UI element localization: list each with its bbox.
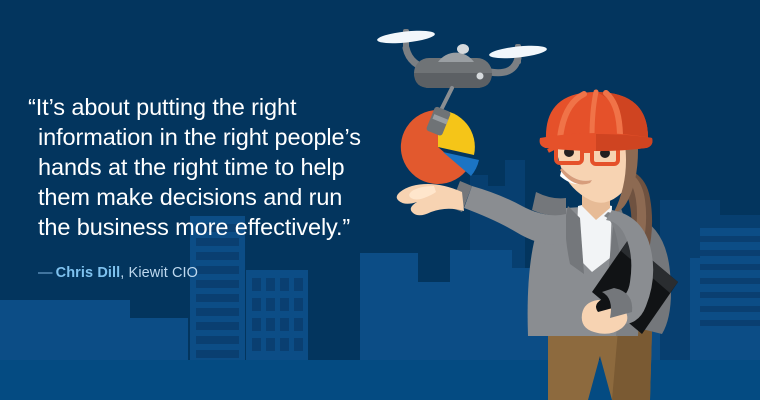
reaching-arm [397,181,566,245]
quote-block: “It’s about putting the right informatio… [38,92,398,281]
drone-dome [438,53,474,62]
drone-light [477,73,484,80]
quote-text: “It’s about putting the right informatio… [38,92,398,242]
drone-arm-right [490,58,518,73]
attribution-name: Chris Dill [56,265,121,281]
hard-hat [540,92,653,151]
drone-dome-highlight [457,44,469,54]
attribution-role: , Kiewit CIO [120,265,198,281]
trousers [548,330,652,400]
attribution-dash: — [38,265,52,281]
drone-cable [441,88,452,110]
promo-banner: “It’s about putting the right informatio… [0,0,760,400]
attribution: — Chris Dill, Kiewit CIO [38,265,398,281]
